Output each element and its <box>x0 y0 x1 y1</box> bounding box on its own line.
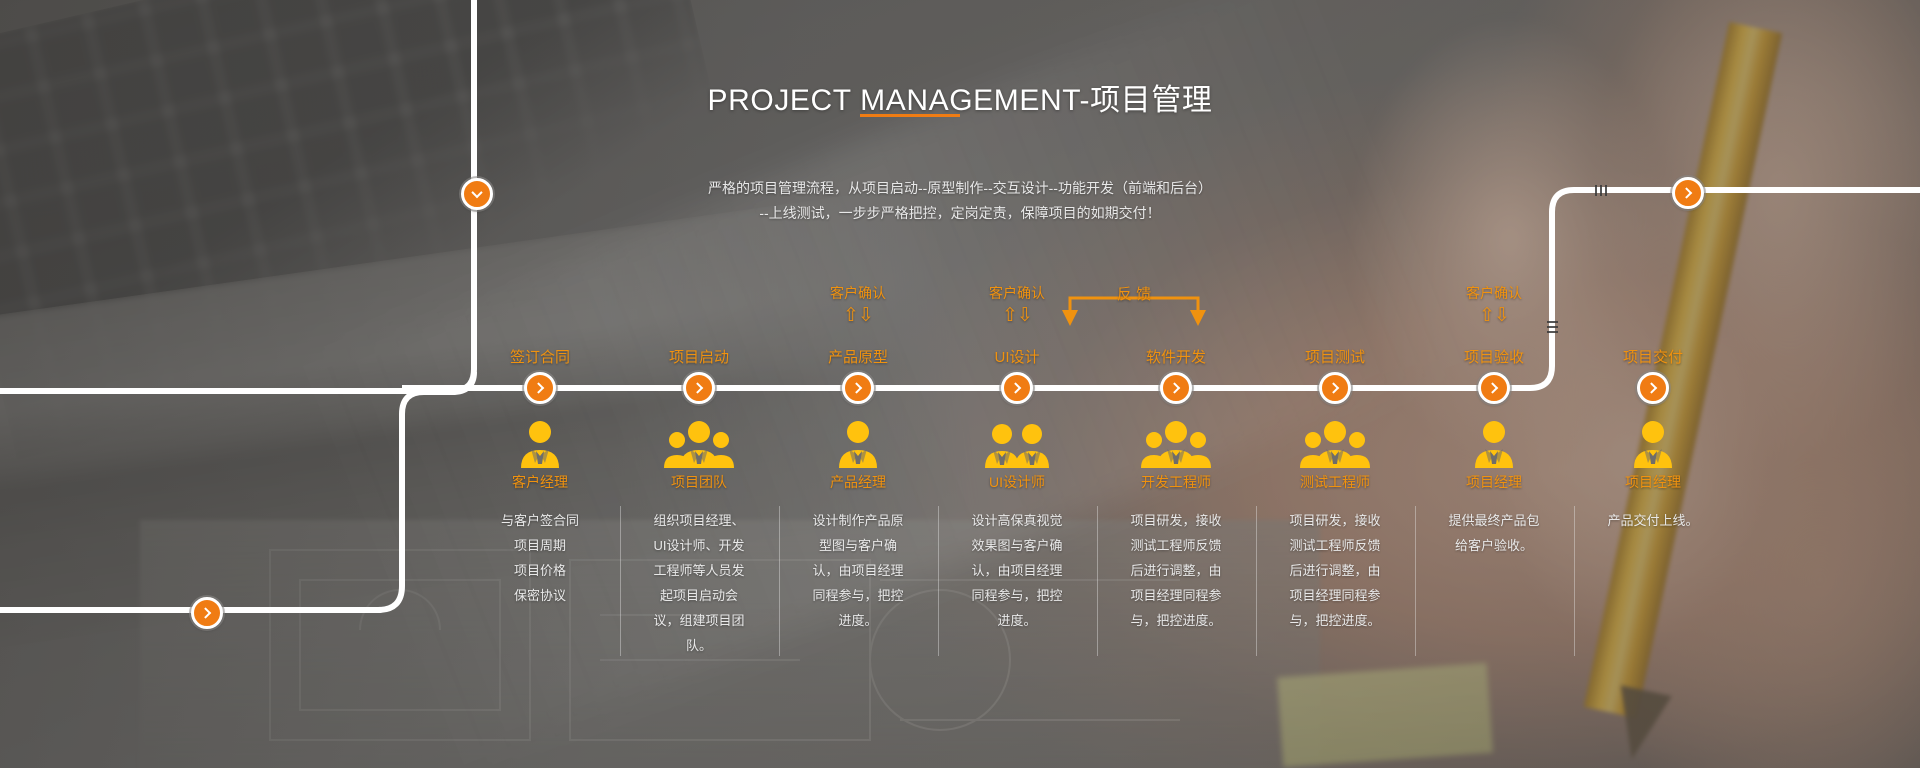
step-label-8: 项目交付 <box>1623 346 1683 367</box>
role-icon-3 <box>821 418 895 468</box>
role-label-6: 测试工程师 <box>1300 472 1370 492</box>
chevron-right-icon <box>1487 382 1498 393</box>
step-label-5: 软件开发 <box>1146 346 1206 367</box>
page-root: PROJECT MANAGEMENT-项目管理 严格的项目管理流程，从项目启动-… <box>0 0 1920 768</box>
chevron-right-icon <box>692 382 703 393</box>
person-icon <box>1457 418 1531 468</box>
customer-confirm-marker: 客户确认⇧⇩ <box>989 283 1045 327</box>
column-divider-2 <box>779 506 780 656</box>
chevron-right-icon <box>1169 382 1180 393</box>
role-label-4: UI设计师 <box>989 472 1045 492</box>
step-label-6: 项目测试 <box>1305 346 1365 367</box>
people-group-icon <box>1298 418 1372 468</box>
step-node-8[interactable] <box>1637 372 1669 404</box>
step-node-4[interactable] <box>1001 372 1033 404</box>
step-description-7: 提供最终产品包给客户验收。 <box>1446 508 1542 558</box>
up-down-arrows-icon: ⇧⇩ <box>1466 305 1522 327</box>
column-divider-4 <box>1097 506 1098 656</box>
step-label-3: 产品原型 <box>828 346 888 367</box>
column-divider-1 <box>620 506 621 656</box>
step-description-4: 设计高保真视觉效果图与客户确认，由项目经理同程参与，把控进度。 <box>969 508 1065 633</box>
chevron-right-icon <box>851 382 862 393</box>
feedback-label: 反 馈 <box>1117 283 1151 304</box>
person-icon <box>503 418 577 468</box>
step-node-6[interactable] <box>1319 372 1351 404</box>
role-icon-6 <box>1298 418 1372 468</box>
people-group-icon <box>662 418 736 468</box>
chevron-right-icon <box>1681 187 1692 198</box>
role-label-2: 项目团队 <box>671 472 727 492</box>
column-divider-3 <box>938 506 939 656</box>
up-down-arrows-icon: ⇧⇩ <box>989 305 1045 327</box>
role-label-1: 客户经理 <box>512 472 568 492</box>
step-label-2: 项目启动 <box>669 346 729 367</box>
people-group-icon <box>980 418 1054 468</box>
role-icon-2 <box>662 418 736 468</box>
chevron-right-icon <box>200 607 211 618</box>
step-label-7: 项目验收 <box>1464 346 1524 367</box>
column-divider-6 <box>1415 506 1416 656</box>
column-divider-5 <box>1256 506 1257 656</box>
step-description-8: 产品交付上线。 <box>1605 508 1701 533</box>
role-icon-8 <box>1616 418 1690 468</box>
step-node-2[interactable] <box>683 372 715 404</box>
timeline-exit-node-right[interactable] <box>1672 177 1704 209</box>
role-icon-5 <box>1139 418 1213 468</box>
role-icon-1 <box>503 418 577 468</box>
step-node-1[interactable] <box>524 372 556 404</box>
role-label-7: 项目经理 <box>1466 472 1522 492</box>
step-node-3[interactable] <box>842 372 874 404</box>
chevron-right-icon <box>533 382 544 393</box>
up-down-arrows-icon: ⇧⇩ <box>830 305 886 327</box>
column-divider-7 <box>1574 506 1575 656</box>
customer-confirm-marker: 客户确认⇧⇩ <box>1466 283 1522 327</box>
step-node-5[interactable] <box>1160 372 1192 404</box>
person-icon <box>821 418 895 468</box>
step-description-5: 项目研发，接收测试工程师反馈后进行调整，由项目经理同程参与，把控进度。 <box>1128 508 1224 633</box>
step-description-1: 与客户签合同 项目周期 项目价格 保密协议 <box>492 508 588 608</box>
timeline-entry-node-left[interactable] <box>191 597 223 629</box>
people-group-icon <box>1139 418 1213 468</box>
step-node-7[interactable] <box>1478 372 1510 404</box>
chevron-right-icon <box>1328 382 1339 393</box>
role-label-5: 开发工程师 <box>1141 472 1211 492</box>
step-description-6: 项目研发，接收测试工程师反馈后进行调整，由项目经理同程参与，把控进度。 <box>1287 508 1383 633</box>
role-icon-7 <box>1457 418 1531 468</box>
step-description-3: 设计制作产品原型图与客户确认，由项目经理同程参与，把控进度。 <box>810 508 906 633</box>
chevron-right-icon <box>1010 382 1021 393</box>
chevron-down-icon <box>471 187 482 198</box>
content-layer: PROJECT MANAGEMENT-项目管理 严格的项目管理流程，从项目启动-… <box>0 0 1920 768</box>
timeline-entry-node-top[interactable] <box>461 178 493 210</box>
customer-confirm-label: 客户确认 <box>1466 285 1522 301</box>
role-label-8: 项目经理 <box>1625 472 1681 492</box>
customer-confirm-label: 客户确认 <box>989 285 1045 301</box>
role-label-3: 产品经理 <box>830 472 886 492</box>
customer-confirm-label: 客户确认 <box>830 285 886 301</box>
role-icon-4 <box>980 418 1054 468</box>
step-label-1: 签订合同 <box>510 346 570 367</box>
step-description-2: 组织项目经理、UI设计师、开发工程师等人员发起项目启动会议，组建项目团队。 <box>651 508 747 658</box>
customer-confirm-marker: 客户确认⇧⇩ <box>830 283 886 327</box>
person-icon <box>1616 418 1690 468</box>
step-label-4: UI设计 <box>994 346 1039 367</box>
timeline-wires <box>0 0 1920 768</box>
chevron-right-icon <box>1646 382 1657 393</box>
